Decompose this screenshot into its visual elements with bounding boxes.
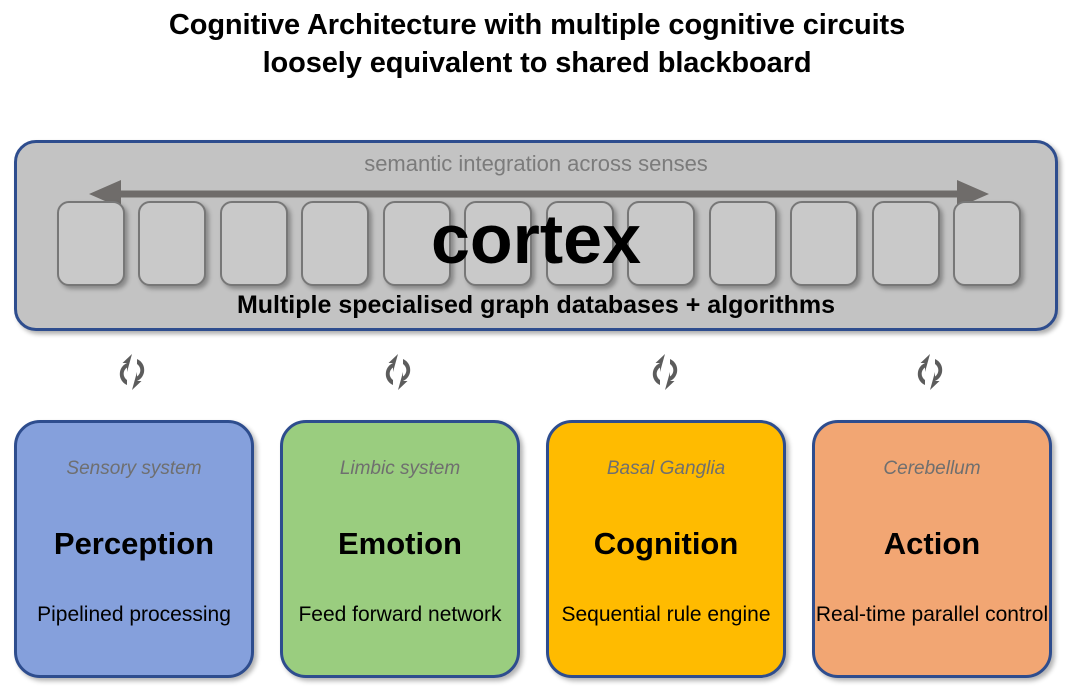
system-box-emotion[interactable]: Limbic systemEmotionFeed forward network bbox=[280, 420, 520, 678]
system-region-label: Sensory system bbox=[66, 457, 201, 481]
system-description-label: Feed forward network bbox=[298, 600, 501, 629]
semantic-integration-label: semantic integration across senses bbox=[17, 151, 1055, 177]
cortex-cell bbox=[383, 201, 451, 286]
page-title: Cognitive Architecture with multiple cog… bbox=[0, 6, 1074, 82]
sync-arrows-icon bbox=[376, 350, 420, 394]
system-description-label: Sequential rule engine bbox=[562, 600, 771, 629]
system-name-label: Emotion bbox=[338, 526, 462, 562]
system-region-label: Basal Ganglia bbox=[607, 457, 725, 481]
system-box-action[interactable]: CerebellumActionReal-time parallel contr… bbox=[812, 420, 1052, 678]
cortex-cell bbox=[790, 201, 858, 286]
cortex-subtitle: Multiple specialised graph databases + a… bbox=[17, 291, 1055, 320]
cortex-cell bbox=[709, 201, 777, 286]
cortex-cell bbox=[627, 201, 695, 286]
cortex-cell bbox=[464, 201, 532, 286]
cortex-bar: semantic integration across senses corte… bbox=[14, 140, 1058, 331]
system-box-perception[interactable]: Sensory systemPerceptionPipelined proces… bbox=[14, 420, 254, 678]
cortex-cell bbox=[138, 201, 206, 286]
system-name-label: Perception bbox=[54, 526, 214, 562]
cortex-cell-row bbox=[57, 201, 1021, 286]
cortex-cell bbox=[546, 201, 614, 286]
system-region-label: Cerebellum bbox=[883, 457, 980, 481]
sync-arrows-icon bbox=[908, 350, 952, 394]
cortex-cell bbox=[953, 201, 1021, 286]
system-name-label: Action bbox=[884, 526, 980, 562]
system-description-label: Real-time parallel control bbox=[816, 600, 1048, 629]
title-line-2: loosely equivalent to shared blackboard bbox=[0, 44, 1074, 82]
sync-arrows-icon bbox=[110, 350, 154, 394]
cortex-cell bbox=[872, 201, 940, 286]
system-name-label: Cognition bbox=[594, 526, 739, 562]
title-line-1: Cognitive Architecture with multiple cog… bbox=[0, 6, 1074, 44]
cortex-cell bbox=[301, 201, 369, 286]
system-box-cognition[interactable]: Basal GangliaCognitionSequential rule en… bbox=[546, 420, 786, 678]
cortex-cell bbox=[220, 201, 288, 286]
cortex-cell bbox=[57, 201, 125, 286]
system-region-label: Limbic system bbox=[340, 457, 460, 481]
system-description-label: Pipelined processing bbox=[37, 600, 231, 629]
sync-arrows-icon bbox=[643, 350, 687, 394]
